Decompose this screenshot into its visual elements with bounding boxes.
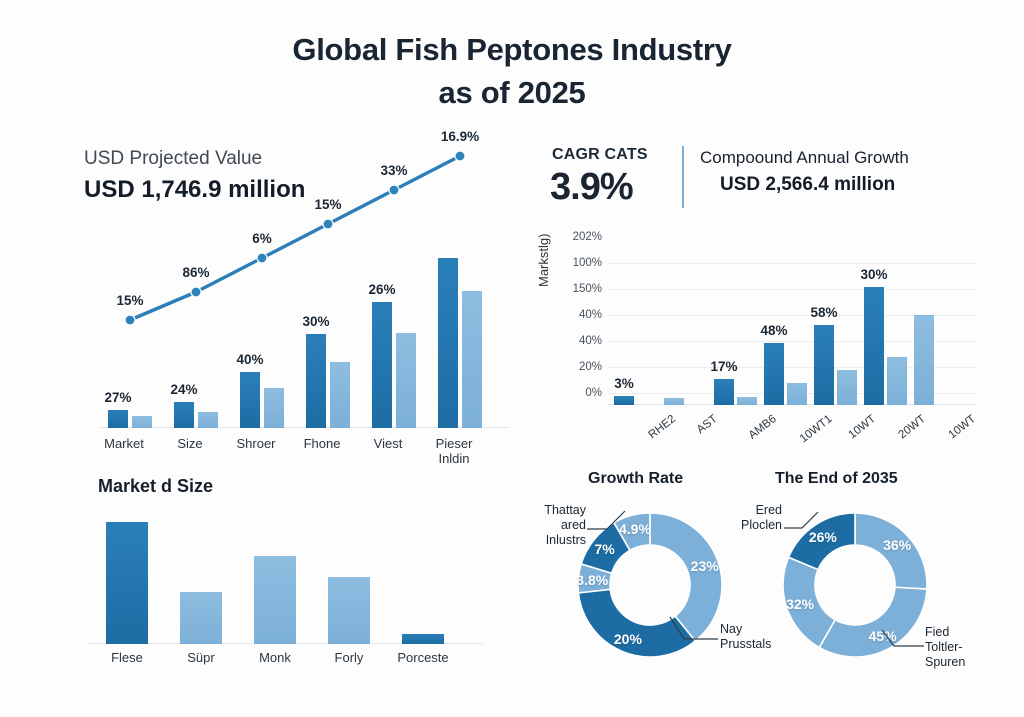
donut-title-growth-rate: Growth Rate bbox=[588, 470, 683, 488]
x-axis-label: Viest bbox=[356, 436, 420, 451]
bar-light bbox=[198, 412, 218, 428]
bar-value-label: 26% bbox=[364, 282, 400, 297]
y-axis-tick-label: 40% bbox=[579, 309, 602, 321]
bar bbox=[180, 592, 222, 644]
x-axis-label: Flese bbox=[90, 650, 164, 665]
x-axis-label: Porceste bbox=[386, 650, 460, 665]
x-axis-label: AMB6 bbox=[747, 413, 779, 442]
page-title: Global Fish Peptones Industry as of 2025 bbox=[0, 28, 1024, 114]
bar bbox=[328, 577, 370, 644]
y-axis-tick-label: 40% bbox=[579, 335, 602, 347]
compound-growth-value: USD 2,566.4 million bbox=[720, 174, 895, 196]
y-axis-tick-label: 150% bbox=[573, 283, 602, 295]
y-axis-tick-label: 0% bbox=[585, 387, 602, 399]
bar-light bbox=[462, 291, 482, 428]
cagr-value: 3.9% bbox=[550, 166, 633, 209]
x-axis-label: 20WT bbox=[897, 413, 929, 441]
y-axis-tick-label: 20% bbox=[579, 361, 602, 373]
bar-dark bbox=[614, 396, 634, 405]
donut-left-percent-label: 3.8% bbox=[576, 572, 608, 588]
donut-left-percent-label: 20% bbox=[614, 631, 642, 647]
market-size-chart: Market d Size FleseSüprMonkForlyPorceste bbox=[88, 472, 518, 672]
bar-light bbox=[396, 333, 416, 428]
leader-line-fied-toltler bbox=[880, 628, 928, 652]
line-value-label: 86% bbox=[182, 265, 209, 280]
y-axis-tick-label: 202% bbox=[573, 231, 602, 243]
donut-title-end-of-2035: The End of 2035 bbox=[775, 470, 898, 488]
callout-line: Spuren bbox=[925, 655, 1015, 670]
x-axis-label: Fhone bbox=[290, 436, 354, 451]
market-size-title: Market d Size bbox=[98, 476, 213, 497]
bar-value-label: 30% bbox=[298, 314, 334, 329]
bar-light bbox=[132, 416, 152, 428]
bar-value-label: 17% bbox=[704, 359, 744, 374]
bar bbox=[254, 556, 296, 644]
title-line-1: Global Fish Peptones Industry bbox=[0, 28, 1024, 71]
callout-line: Thattay bbox=[528, 503, 586, 518]
cagr-label: CAGR CATS bbox=[552, 146, 648, 164]
line-value-label: 6% bbox=[252, 231, 272, 246]
market-size-plot bbox=[88, 514, 518, 644]
y-axis-ticks: 202%100%150%40%40%20%0% bbox=[560, 225, 602, 405]
callout-line: ared bbox=[528, 518, 586, 533]
bar-value-label: 58% bbox=[804, 305, 844, 320]
y-axis-tick-label: 100% bbox=[573, 257, 602, 269]
projected-value-plot: 15%86%6%15%33%16.9% 27%24%40%30%26% bbox=[80, 128, 520, 428]
x-axis-labels: FleseSüprMonkForlyPorceste bbox=[88, 648, 518, 674]
gridline bbox=[608, 263, 976, 264]
callout-line: Inlustrs bbox=[528, 533, 586, 548]
x-axis-label: AST bbox=[695, 413, 720, 436]
bar-dark bbox=[714, 379, 734, 405]
x-axis-label: Süpr bbox=[164, 650, 238, 665]
callout-line: Ploclen bbox=[728, 518, 782, 533]
projected-value-chart: USD Projected Value USD 1,746.9 million … bbox=[80, 128, 520, 468]
x-axis-label: RHE2 bbox=[647, 413, 679, 441]
bar-light bbox=[264, 388, 284, 428]
bar-light bbox=[737, 397, 757, 405]
line-value-label: 15% bbox=[116, 293, 143, 308]
x-axis-label: 10WT1 bbox=[798, 413, 835, 445]
bar-dark bbox=[438, 258, 458, 428]
market-growth-plot: 3%17%48%58%30% bbox=[608, 225, 976, 405]
gridline bbox=[608, 289, 976, 290]
bar bbox=[106, 522, 148, 644]
x-axis-label: Shroer bbox=[224, 436, 288, 451]
line-value-label: 16.9% bbox=[441, 129, 479, 144]
market-growth-chart: Markstlg) 202%100%150%40%40%20%0% 3%17%4… bbox=[530, 225, 980, 465]
bar-value-label: 48% bbox=[754, 323, 794, 338]
x-axis-label: Size bbox=[158, 436, 222, 451]
donut-left-percent-label: 23% bbox=[691, 558, 719, 574]
bar-dark bbox=[864, 287, 884, 405]
x-axis-label: Monk bbox=[238, 650, 312, 665]
line-value-label: 15% bbox=[314, 197, 341, 212]
callout-ered-ploclen: Ered Ploclen bbox=[728, 503, 782, 533]
callout-fied-toltler-spuren: Fied Toltler- Spuren bbox=[925, 625, 1015, 670]
bar bbox=[402, 634, 444, 644]
line-value-label: 33% bbox=[380, 163, 407, 178]
bar-dark bbox=[814, 325, 834, 405]
bar-value-label: 27% bbox=[100, 390, 136, 405]
leader-line-nay-prusstals bbox=[668, 615, 728, 649]
cagr-header: CAGR CATS 3.9% Compoound Annual Growth U… bbox=[552, 144, 972, 214]
callout-line: Ered bbox=[728, 503, 782, 518]
x-axis-label: 10WT bbox=[947, 413, 979, 441]
bar-value-label: 3% bbox=[604, 376, 644, 391]
donut-left-percent-label: 7% bbox=[594, 541, 614, 557]
compound-growth-title: Compoound Annual Growth bbox=[700, 148, 909, 168]
header-divider bbox=[682, 146, 684, 208]
x-axis-labels: MarketSizeShroerFhoneViestPieser Inldin bbox=[80, 430, 520, 472]
bar-dark bbox=[108, 410, 128, 428]
bar-dark bbox=[174, 402, 194, 428]
bar-dark bbox=[764, 343, 784, 405]
donut-right-percent-label: 36% bbox=[883, 537, 911, 553]
bar-dark bbox=[306, 334, 326, 428]
bar-dark bbox=[240, 372, 260, 428]
x-axis-label: Market bbox=[92, 436, 156, 451]
leader-line-thattay bbox=[585, 505, 645, 535]
donut-right-percent-label: 32% bbox=[786, 596, 814, 612]
donut-titles: Growth Rate The End of 2035 bbox=[525, 470, 985, 496]
title-line-2: as of 2025 bbox=[0, 71, 1024, 114]
bar-value-label: 24% bbox=[166, 382, 202, 397]
x-axis-label: Pieser Inldin bbox=[422, 436, 486, 466]
bar-light bbox=[887, 357, 907, 405]
bar-light bbox=[787, 383, 807, 405]
bar-light bbox=[664, 398, 684, 405]
x-axis-label: Forly bbox=[312, 650, 386, 665]
leader-line-ered-ploclen bbox=[782, 508, 834, 534]
callout-line: Fied bbox=[925, 625, 1015, 640]
bar-dark bbox=[372, 302, 392, 428]
bar-value-label: 30% bbox=[854, 267, 894, 282]
bar-light bbox=[330, 362, 350, 428]
bar-value-label: 40% bbox=[232, 352, 268, 367]
callout-line: Toltler- bbox=[925, 640, 1015, 655]
infographic-page: Global Fish Peptones Industry as of 2025… bbox=[0, 0, 1024, 717]
x-axis-labels: RHE2ASTAMB610WT110WT20WT10WT bbox=[608, 409, 976, 449]
bar-light bbox=[914, 315, 934, 405]
x-axis-label: 10WT bbox=[847, 413, 879, 441]
bar-light bbox=[837, 370, 857, 405]
y-axis-label: Markstlg) bbox=[536, 234, 551, 287]
callout-thattay: Thattay ared Inlustrs bbox=[528, 503, 586, 548]
